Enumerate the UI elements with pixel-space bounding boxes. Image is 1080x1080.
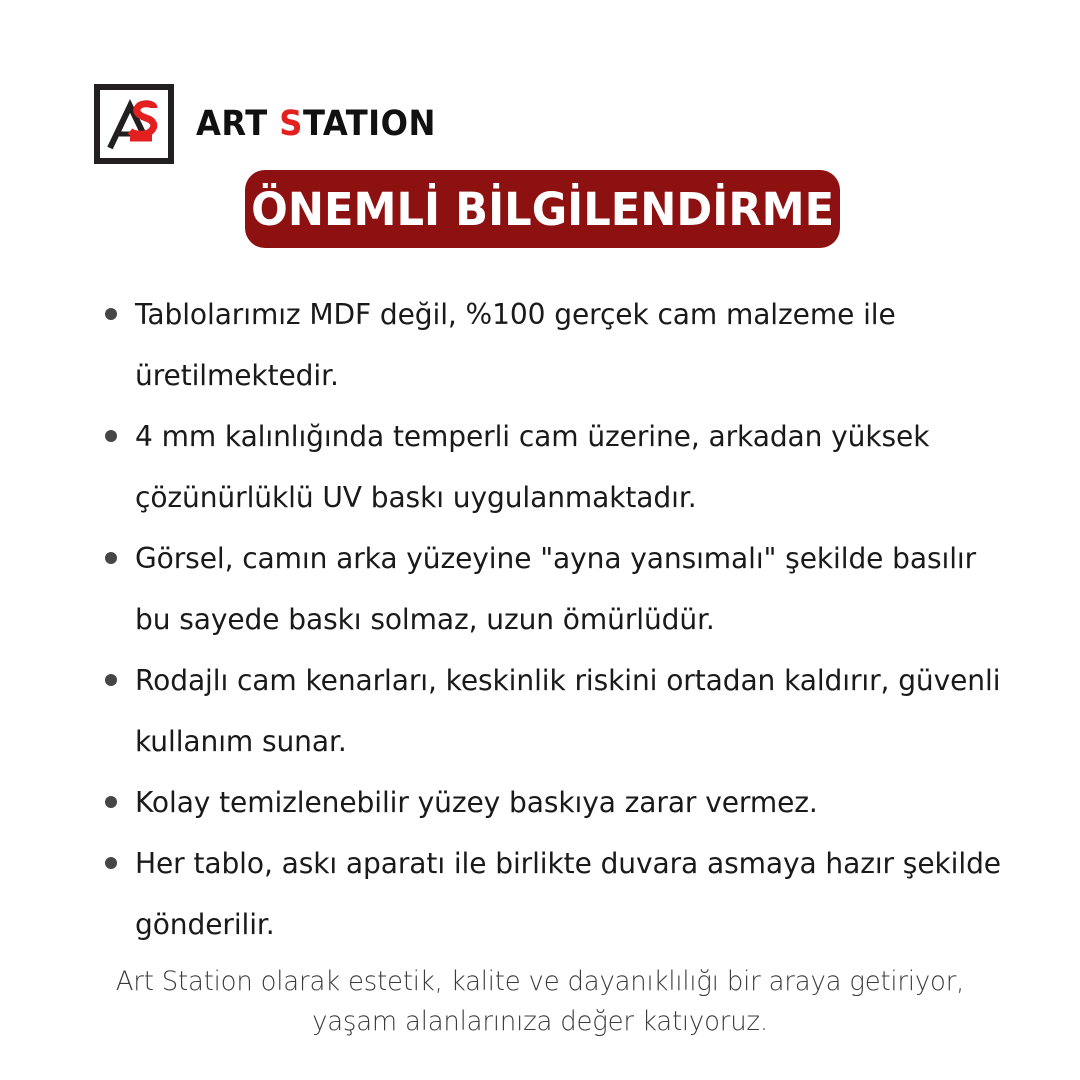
list-item-text: Rodajlı cam kenarları, keskinlik riskini… <box>135 650 1021 772</box>
list-item: Rodajlı cam kenarları, keskinlik riskini… <box>104 650 1034 772</box>
bullet-dot-icon <box>105 857 117 869</box>
list-item-text: Her tablo, askı aparatı ile birlikte duv… <box>135 833 1021 955</box>
footer-line-2: yaşam alanlarınıza değer katıyoruz. <box>22 1002 1059 1042</box>
bullet-dot-icon <box>105 430 117 442</box>
list-item: 4 mm kalınlığında temperli cam üzerine, … <box>104 406 1034 528</box>
art-station-monogram-icon <box>94 84 174 164</box>
footer-line-1: Art Station olarak estetik, kalite ve da… <box>22 962 1059 1002</box>
list-item: Her tablo, askı aparatı ile birlikte duv… <box>104 833 1034 955</box>
banner-important-notice: ÖNEMLİ BİLGİLENDİRME <box>245 170 840 248</box>
footer-tagline: Art Station olarak estetik, kalite ve da… <box>0 962 1080 1042</box>
list-item: Kolay temizlenebilir yüzey baskıya zarar… <box>104 772 1034 833</box>
bullet-dot-icon <box>105 308 117 320</box>
wordmark-suffix: TATION <box>303 104 436 144</box>
list-item: Görsel, camın arka yüzeyine "ayna yansım… <box>104 528 1034 650</box>
banner-title: ÖNEMLİ BİLGİLENDİRME <box>251 187 834 232</box>
bullet-dot-icon <box>105 552 117 564</box>
bullet-dot-icon <box>105 674 117 686</box>
list-item-text: Görsel, camın arka yüzeyine "ayna yansım… <box>135 528 1021 650</box>
notice-bullet-list: Tablolarımız MDF değil, %100 gerçek cam … <box>104 284 1034 955</box>
list-item-text: 4 mm kalınlığında temperli cam üzerine, … <box>135 406 1021 528</box>
list-item-text: Tablolarımız MDF değil, %100 gerçek cam … <box>135 284 1021 406</box>
wordmark-accent-letter: S <box>279 104 303 144</box>
wordmark-prefix: ART <box>196 104 279 144</box>
bullet-dot-icon <box>105 796 117 808</box>
brand-wordmark: ART STATION <box>196 107 436 142</box>
infographic-canvas: ART STATION ÖNEMLİ BİLGİLENDİRME Tablola… <box>0 0 1080 1080</box>
list-item: Tablolarımız MDF değil, %100 gerçek cam … <box>104 284 1034 406</box>
list-item-text: Kolay temizlenebilir yüzey baskıya zarar… <box>135 772 1021 833</box>
brand-logo: ART STATION <box>94 84 457 164</box>
